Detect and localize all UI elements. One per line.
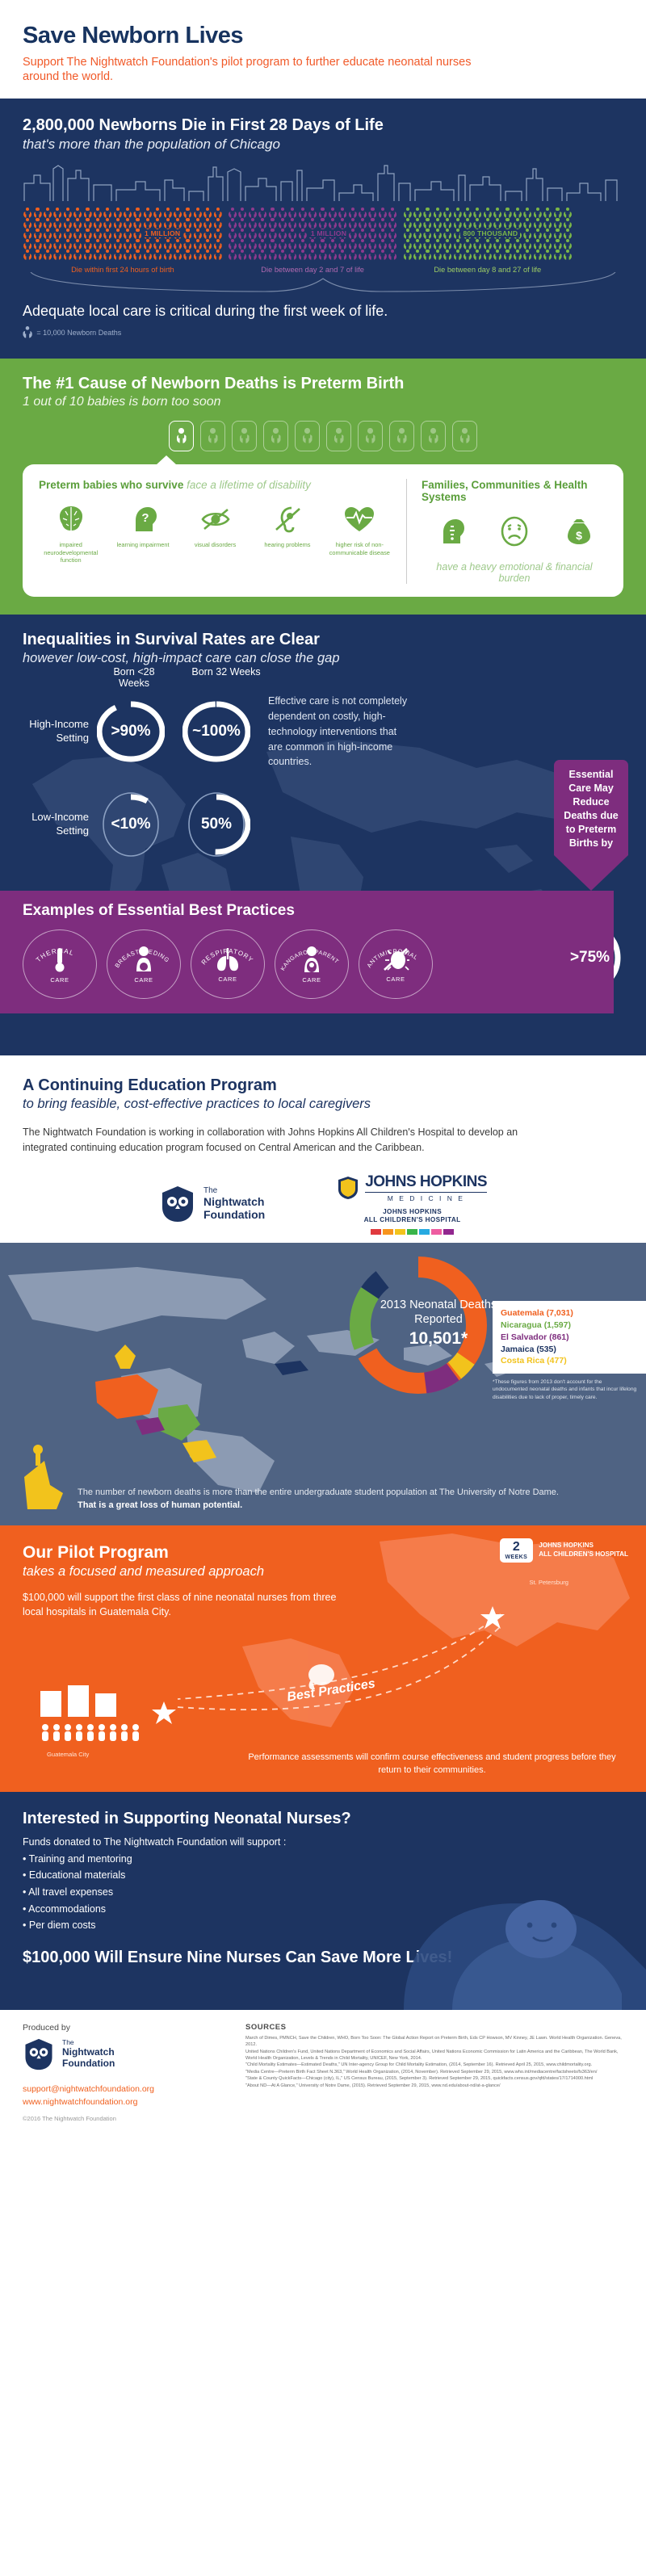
person-icon [328,208,338,218]
burden-item-2: $ [551,514,607,548]
person-icon [162,208,172,218]
person-icon [533,250,543,260]
person-icon [287,218,297,229]
person-icon [173,208,182,218]
disability-item-4: higher risk of non-communicable disease [328,502,392,564]
preterm-birth-section: The #1 Cause of Newborn Deaths is Preter… [0,359,646,615]
survival-value-low-32wk: 50% [201,816,232,833]
pilot-program-section: Our Pilot Program takes a focused and me… [0,1525,646,1792]
burden-item-1 [486,514,543,548]
person-icon [23,229,32,239]
survival-value-high-28wk: >90% [111,723,150,740]
owl-icon [159,1185,196,1223]
person-icon [348,208,358,218]
person-icon [348,250,358,260]
person-icon [248,250,258,260]
person-icon [182,239,192,250]
person-icon [153,218,162,229]
person-icon [348,218,358,229]
person-icon [52,208,62,218]
swatch-orange [383,1229,393,1235]
burden-panel: Families, Communities & Health Systems [406,479,607,584]
person-icon [463,239,472,250]
person-icon [388,239,397,250]
badge-line-2: ALL CHILDREN'S HOSPITAL [539,1550,628,1559]
person-icon [212,229,222,239]
person-icon [248,218,258,229]
person-icon [402,218,412,229]
person-icon [402,239,412,250]
money-bag-icon: $ [562,514,596,548]
svg-text:?: ? [142,511,149,525]
row-label-low-income: Low-Income Setting [23,811,97,838]
donut-footnote: *These figures from 2013 don't account f… [493,1378,638,1402]
person-icon [308,250,317,260]
burden-icon-row: $ [422,514,607,548]
svg-text:THERMAL: THERMAL [35,947,75,963]
person-icon [212,218,222,229]
hands-holding-baby-graphic [380,1808,646,2010]
person-icon [502,208,512,218]
swatch-green [407,1229,417,1235]
person-icon [513,208,522,218]
disability-item-1-label: learning impairment [111,541,174,548]
city-label-st-petersburg: St. Petersburg [529,1579,568,1586]
baby-icon [333,428,344,444]
person-icon [52,250,62,260]
person-icon [483,250,493,260]
person-icon [483,239,493,250]
person-icon [358,250,367,260]
person-icon [483,208,493,218]
person-icon [388,229,397,239]
infographic-page: Save Newborn Lives Support The Nightwatc… [0,0,646,2137]
badge-line-1: JOHNS HOPKINS [539,1542,628,1550]
person-icon [388,208,397,218]
kangaroo-arc-label: KANGAROO PARENT [275,930,350,1000]
baby-cell [200,421,225,451]
survival-row-low-income: Low-Income Setting <10% 50% [23,787,623,862]
best-practice-breastfeeding: BREASTFEEDING CARE [107,929,181,999]
person-icon [443,229,452,239]
person-icon [278,239,287,250]
best-practices-title: Examples of Essential Best Practices [23,902,591,920]
heart-pulse-icon [342,502,376,536]
swatch-red [371,1229,381,1235]
person-icon [533,218,543,229]
person-icon [413,208,422,218]
person-icon [203,239,212,250]
preterm-impact-card: Preterm babies who survive face a lifeti… [23,464,623,597]
person-icon [308,208,317,218]
bp-arc-1: BREASTFEEDING [113,947,170,969]
person-icon [132,229,142,239]
person-icon [132,218,142,229]
person-icon [123,218,132,229]
person-icon [52,229,62,239]
person-icon [552,250,562,260]
person-icon [433,239,443,250]
person-icon [472,218,482,229]
disability-item-0-label: impaired neurodevelopmental function [39,541,103,564]
person-icon [522,250,532,260]
best-practice-kangaroo: KANGAROO PARENT CARE [275,929,349,999]
footer-email[interactable]: support@nightwatchfoundation.org [23,2083,224,2096]
person-icon [552,208,562,218]
map-and-donut-section: 2013 Neonatal Deaths Reported 10,501* Gu… [0,1243,646,1525]
person-icon [93,218,103,229]
person-icon [348,239,358,250]
person-icon [402,229,412,239]
thermal-arc-label: THERMAL [23,930,98,1000]
antimicrobial-arc-label: ANTIMICROBIAL [359,930,434,1000]
person-icon [63,250,73,260]
inequalities-section: Inequalities in Survival Rates are Clear… [0,615,646,1055]
person-icon [93,239,103,250]
person-icon [228,208,237,218]
person-icon [23,239,32,250]
person-icon [338,250,347,260]
person-icon [182,218,192,229]
person-icon [193,208,203,218]
header-section: Save Newborn Lives Support The Nightwatc… [0,0,646,99]
person-icon [308,218,317,229]
person-icon [132,250,142,260]
breastfeeding-arc-label: BREASTFEEDING [107,930,182,1000]
preterm-subtitle: 1 out of 10 babies is born too soon [23,395,623,409]
person-icon [82,239,92,250]
pictogram-legend-text: = 10,000 Newborn Deaths [36,329,121,337]
person-icon [443,218,452,229]
best-practices-panel: Examples of Essential Best Practices THE… [0,891,614,1013]
baby-cell [452,421,477,451]
person-icon [463,218,472,229]
nw-line-1: The [203,1186,265,1196]
person-icon [413,250,422,260]
person-icon [267,218,277,229]
person-icon [193,218,203,229]
reduction-value: >75% [570,949,610,967]
survival-ring-high-32wk: ~100% [182,694,250,769]
person-icon [328,239,338,250]
person-icon [388,250,397,260]
person-icon [422,208,432,218]
baby-cell [421,421,446,451]
person-icon [422,239,432,250]
disability-heading-bold: Preterm babies who survive [39,479,183,491]
person-icon [203,229,212,239]
person-icon [193,250,203,260]
best-practices-grid: THERMAL CARE BREASTFEEDING [23,929,591,999]
bp-arc-2: RESPIRATORY [200,947,255,966]
person-icon [228,218,237,229]
inequalities-title: Inequalities in Survival Rates are Clear [23,631,623,649]
donut-center-value: 10,501* [378,1329,499,1349]
person-icon [452,239,462,250]
person-icon [173,218,182,229]
survival-ring-high-28wk: >90% [97,694,165,769]
person-icon [182,229,192,239]
person-icon [402,250,412,260]
person-icon [23,208,32,218]
burden-item-0 [422,514,478,548]
person-icon [358,229,367,239]
person-icon [287,250,297,260]
person-icon [552,229,562,239]
person-icon [472,239,482,250]
person-icon [123,239,132,250]
best-practice-antimicrobial: ANTIMICROBIAL CARE [359,929,433,999]
person-icon [193,229,203,239]
person-icon [123,250,132,260]
baby-icon [208,428,218,444]
baby-icon [271,428,281,444]
notch-shape [23,1022,646,1055]
baby-icon [365,428,375,444]
person-icon [338,218,347,229]
nightwatch-logo-text: The Nightwatch Foundation [203,1186,265,1222]
person-icon [212,208,222,218]
person-icon [153,208,162,218]
person-icon [502,250,512,260]
person-icon [298,229,308,239]
person-icon [443,239,452,250]
footer-section: Produced by The Nightwatch Foundation su… [0,2010,646,2138]
person-icon [237,250,247,260]
person-icon [267,239,277,250]
footer-website[interactable]: www.nightwatchfoundation.org [23,2096,224,2108]
deaths-subtitle: that's more than the population of Chica… [23,136,623,153]
jh-sub: JOHNS HOPKINS ALL CHILDREN'S HOSPITAL [338,1208,487,1225]
person-icon [413,239,422,250]
person-icon [543,239,552,250]
person-icon [502,218,512,229]
person-icon [32,208,42,218]
baby-ratio-pictogram [23,421,623,451]
sad-face-icon [497,514,531,548]
person-icon [533,239,543,250]
person-icon [73,218,82,229]
person-icon [367,208,377,218]
person-icon [452,250,462,260]
person-icon [563,218,573,229]
person-icon [413,218,422,229]
person-icon [237,239,247,250]
callout-arrow-tip [554,855,628,891]
jh-color-swatches [338,1229,487,1235]
person-icon [493,208,502,218]
person-icon [153,250,162,260]
swatch-blue [419,1229,430,1235]
person-icon [193,239,203,250]
deaths-title: 2,800,000 Newborns Die in First 28 Days … [23,116,623,135]
person-icon [203,208,212,218]
person-icon [248,239,258,250]
person-icon [237,208,247,218]
svg-text:BREASTFEEDING: BREASTFEEDING [113,947,170,969]
pictogram-legend: = 10,000 Newborn Deaths [23,327,623,338]
person-icon [443,250,452,260]
disability-item-1: ? learning impairment [111,502,174,564]
person-icon [228,250,237,260]
deaths-closing-statement: Adequate local care is critical during t… [23,303,623,320]
badge-hospital-name: JOHNS HOPKINS ALL CHILDREN'S HOSPITAL [539,1542,628,1559]
person-icon [402,208,412,218]
person-icon [113,250,123,260]
baby-icon [428,428,438,444]
person-icon [552,239,562,250]
jh-sub-1: JOHNS HOPKINS [338,1208,487,1217]
person-icon [228,239,237,250]
nightwatch-logo: The Nightwatch Foundation [159,1185,265,1223]
support-section: Interested in Supporting Neonatal Nurses… [0,1792,646,2010]
legend-nicaragua: Nicaragua (1,597) [501,1319,638,1332]
person-icon [298,218,308,229]
person-icon [143,208,153,218]
person-icon [563,239,573,250]
person-icon [463,250,472,260]
person-icon [543,208,552,218]
person-icon [378,239,388,250]
page-title: Save Newborn Lives [23,23,623,49]
produced-by-label: Produced by [23,2023,224,2033]
newborn-deaths-section: 2,800,000 Newborns Die in First 28 Days … [0,99,646,359]
person-icon [248,229,258,239]
person-icon [123,208,132,218]
person-icon [388,218,397,229]
person-icon [103,229,112,239]
preterm-title: The #1 Cause of Newborn Deaths is Preter… [23,375,623,393]
person-icon [182,208,192,218]
pilot-footer-note: Performance assessments will confirm cou… [242,1751,622,1777]
weeks-chip: 2 WEEKS [500,1538,534,1563]
disability-item-3: hearing problems [255,502,319,564]
page-tagline: Support The Nightwatch Foundation's pilo… [23,55,475,84]
baby-cell [389,421,414,451]
baby-icon [396,428,407,444]
person-icon [522,229,532,239]
person-icon [543,250,552,260]
person-icon [543,229,552,239]
disability-item-0: impaired neurodevelopmental function [39,502,103,564]
baby-icon [176,428,187,444]
disability-panel-heading: Preterm babies who survive face a lifeti… [39,479,392,491]
person-icon [248,208,258,218]
jh-sub-2: ALL CHILDREN'S HOSPITAL [338,1216,487,1225]
best-practice-thermal: THERMAL CARE [23,929,97,999]
johns-hopkins-logo: JOHNS HOPKINS M E D I C I N E JOHNS HOPK… [338,1173,487,1235]
eye-crossed-icon [199,502,233,536]
person-icon [317,218,327,229]
person-icon [278,218,287,229]
person-icon [472,208,482,218]
person-icon [287,208,297,218]
people-group-0: 1 MILLION Die within first 24 hours of b… [23,208,223,274]
two-weeks-badge: 2 WEEKS JOHNS HOPKINS ALL CHILDREN'S HOS… [500,1538,628,1563]
person-icon [433,208,443,218]
person-icon [113,229,123,239]
person-icon [173,239,182,250]
people-group-2: 800 THOUSAND Die between day 8 and 27 of… [402,208,573,274]
essential-care-text: Essential Care May Reduce Deaths due to … [554,760,628,854]
jh-shield-icon [338,1176,359,1200]
baby-cell [358,421,383,451]
footer-nw-line-2: Nightwatch [62,2047,115,2058]
burden-note: have a heavy emotional & financial burde… [422,561,607,584]
footer-copyright: ©2016 The Nightwatch Foundation [23,2115,224,2122]
person-icon [143,218,153,229]
person-icon [378,218,388,229]
person-icon [463,208,472,218]
disability-item-4-label: higher risk of non-communicable disease [328,541,392,556]
svg-text:KANGAROO PARENT: KANGAROO PARENT [280,950,339,972]
ear-crossed-icon [271,502,304,536]
donut-center-text: 2013 Neonatal Deaths Reported 10,501* [378,1298,499,1349]
footer-sources: SOURCES March of Dimes, PMNCH, Save the … [245,2023,623,2123]
weeks-label: WEEKS [505,1554,528,1560]
swatch-pink [431,1229,442,1235]
person-icon [522,218,532,229]
education-title: A Continuing Education Program [23,1076,623,1095]
person-icon [32,229,42,239]
footer-nightwatch-logo: The Nightwatch Foundation [23,2037,224,2071]
person-icon [348,229,358,239]
disability-heading-light: face a lifetime of disability [187,479,311,491]
person-icon [73,208,82,218]
person-icon [472,250,482,260]
person-icon [563,250,573,260]
footer-contact: support@nightwatchfoundation.org www.nig… [23,2083,224,2109]
survival-ring-low-32wk: 50% [182,787,250,862]
person-icon [358,208,367,218]
person-icon [552,218,562,229]
person-icon [298,250,308,260]
person-icon [287,239,297,250]
person-icon [258,250,267,260]
person-icon [317,208,327,218]
footer-nw-line-3: Foundation [62,2058,115,2070]
person-icon [378,229,388,239]
person-icon [433,250,443,260]
map-note: The number of newborn deaths is more tha… [78,1486,578,1512]
legend-jamaica: Jamaica (535) [501,1344,638,1356]
source-entry: "State & County QuickFacts—Chicago (city… [245,2075,623,2082]
person-icon [258,218,267,229]
legend-guatemala: Guatemala (7,031) [501,1307,638,1319]
person-icon [358,218,367,229]
person-icon [237,229,247,239]
person-icon [82,218,92,229]
footer-logo-text: The Nightwatch Foundation [62,2039,115,2069]
person-icon [367,218,377,229]
person-icon [103,208,112,218]
baby-cell [232,421,257,451]
person-icon [237,218,247,229]
row-label-high-income: High-Income Setting [23,718,97,745]
group-2-value-label: 800 THOUSAND [460,229,520,237]
svg-text:ANTIMICROBIAL: ANTIMICROBIAL [365,947,419,969]
person-icon [63,239,73,250]
sources-title: SOURCES [245,2023,623,2032]
person-icon [367,250,377,260]
city-label-guatemala-city: Guatemala City [47,1751,89,1758]
group-1-value-label: 1 MILLION [308,229,349,237]
owl-icon [23,2037,55,2071]
person-icon [522,208,532,218]
disability-item-2: visual disorders [183,502,247,564]
disability-item-3-label: hearing problems [255,541,319,548]
person-icon [522,239,532,250]
